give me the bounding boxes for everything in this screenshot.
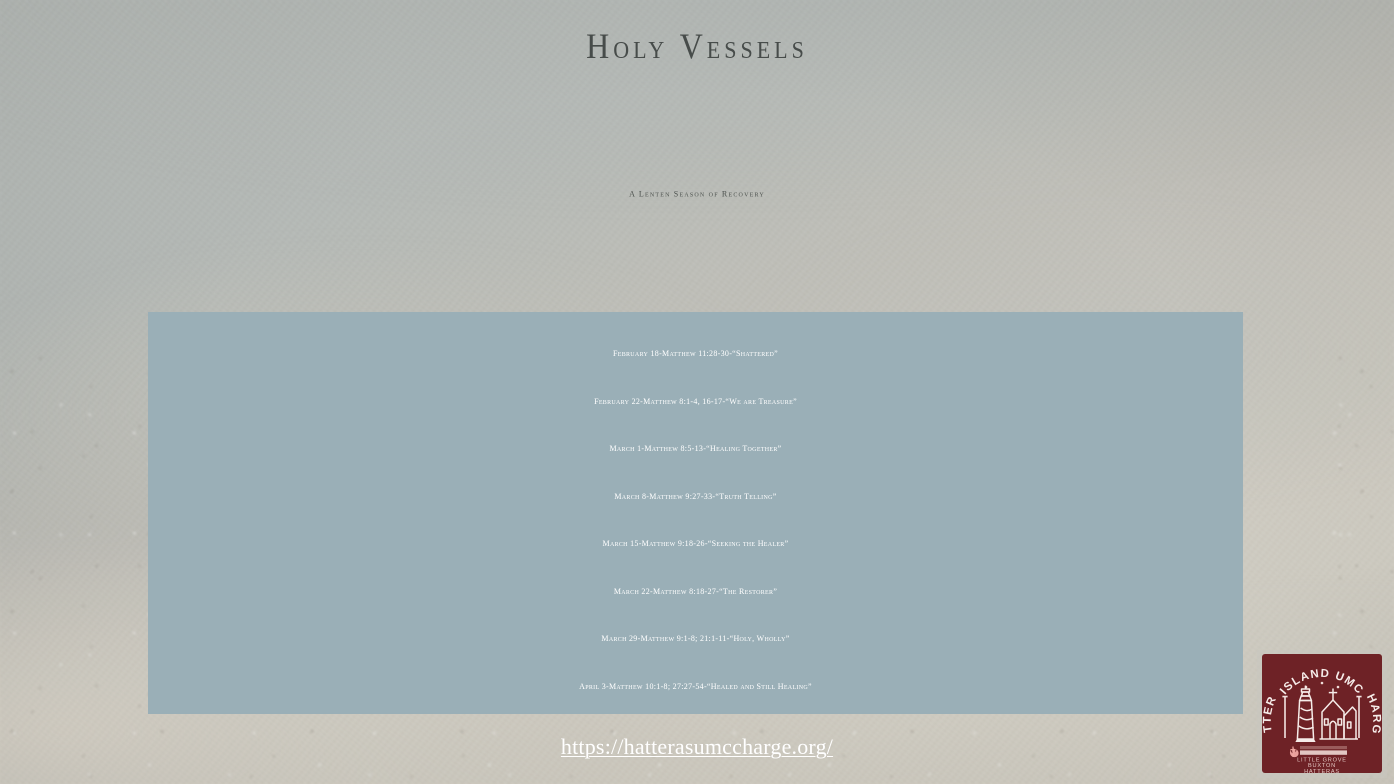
logo-denomination-line (1300, 746, 1347, 755)
schedule-line: March 15-Matthew 9:18-26-“Seeking the He… (148, 519, 1243, 568)
schedule-line: April 3-Matthew 10:1-8; 27:27-54-“Healed… (148, 662, 1243, 711)
schedule-line: March 1-Matthew 8:5-13-“Healing Together… (148, 424, 1243, 473)
schedule-panel: February 18-Matthew 11:28-30-“Shattered”… (148, 312, 1243, 714)
page-subtitle: A Lenten Season of Recovery (0, 190, 1394, 199)
logo-church-name: HATTERAS (1304, 769, 1340, 775)
hatteras-island-umc-charge-logo[interactable]: ISLAND UMC HATTERAS CHARGE (1257, 650, 1387, 778)
schedule-line: March 29-Matthew 9:1-8; 21:1-11-“Holy, W… (148, 614, 1243, 663)
schedule-line: February 22-Matthew 8:1-4, 16-17-“We are… (148, 377, 1243, 426)
lighthouse-base (1295, 739, 1315, 742)
schedule-line: February 18-Matthew 11:28-30-“Shattered” (148, 329, 1243, 378)
page-title: Holy Vessels (0, 28, 1394, 64)
schedule-line: March 8-Matthew 9:27-33-“Truth Telling” (148, 472, 1243, 521)
schedule-line: March 22-Matthew 8:18-27-“The Restorer” (148, 567, 1243, 616)
website-link[interactable]: https://hatterasumccharge.org/ (0, 734, 1394, 760)
slide-canvas: Holy Vessels A Lenten Season of Recovery… (0, 0, 1394, 784)
